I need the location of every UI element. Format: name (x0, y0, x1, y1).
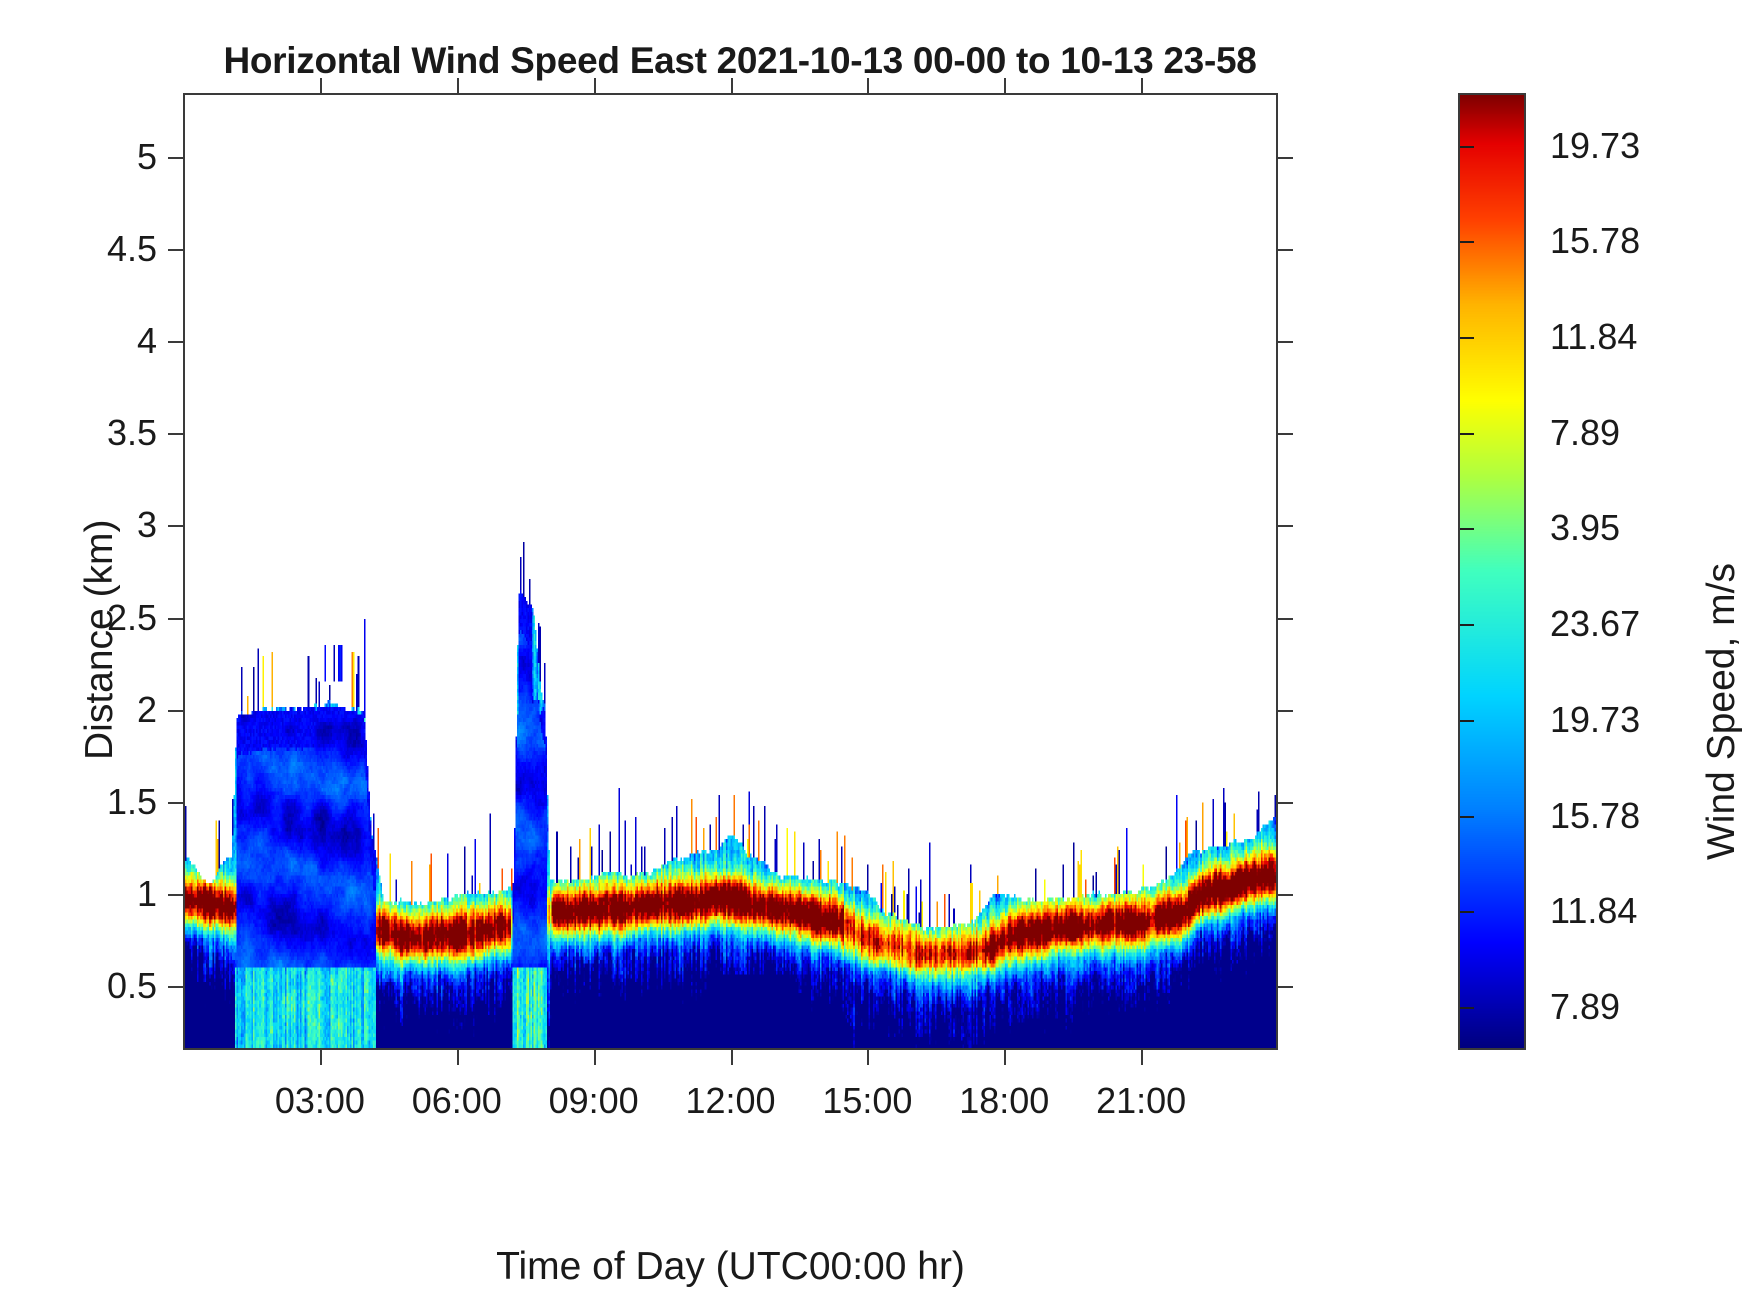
heatmap-image (185, 95, 1276, 1048)
colorbar-tick-label: 19.73 (1550, 125, 1640, 167)
x-tick-top (320, 78, 322, 93)
x-tick (1141, 1050, 1143, 1065)
colorbar-tick (1460, 337, 1474, 339)
x-tick-top (731, 78, 733, 93)
colorbar-tick-label: 19.73 (1550, 699, 1640, 741)
colorbar-tick (1460, 911, 1474, 913)
y-tick (168, 341, 183, 343)
y-tick (168, 710, 183, 712)
y-tick-right (1278, 341, 1293, 343)
colorbar-tick (1460, 241, 1474, 243)
colorbar-tick-label: 11.84 (1550, 316, 1637, 358)
plot-area (183, 93, 1278, 1050)
y-tick-label: 4 (0, 320, 157, 362)
y-tick-label: 4.5 (0, 228, 157, 270)
y-tick-label: 1 (0, 873, 157, 915)
y-tick-right (1278, 249, 1293, 251)
y-tick-right (1278, 157, 1293, 159)
heatmap-canvas (185, 95, 1276, 1048)
chart-figure: Horizontal Wind Speed East 2021-10-13 00… (0, 0, 1750, 1313)
y-tick (168, 894, 183, 896)
x-tick-top (594, 78, 596, 93)
x-axis-label: Time of Day (UTC00:00 hr) (183, 1245, 1278, 1289)
y-tick (168, 525, 183, 527)
y-axis-label: Distance (km) (78, 519, 122, 760)
colorbar-tick (1460, 816, 1474, 818)
y-tick (168, 249, 183, 251)
x-tick (731, 1050, 733, 1065)
colorbar-tick (1460, 433, 1474, 435)
x-tick-top (1141, 78, 1143, 93)
chart-title: Horizontal Wind Speed East 2021-10-13 00… (0, 40, 1480, 82)
y-tick (168, 802, 183, 804)
colorbar-gradient (1460, 95, 1524, 1048)
colorbar (1458, 93, 1526, 1050)
colorbar-tick (1460, 1007, 1474, 1009)
y-tick-label: 1.5 (0, 781, 157, 823)
y-tick-right (1278, 710, 1293, 712)
x-tick-top (457, 78, 459, 93)
y-tick (168, 433, 183, 435)
x-tick-top (1004, 78, 1006, 93)
colorbar-tick (1460, 624, 1474, 626)
y-tick-right (1278, 618, 1293, 620)
x-tick (320, 1050, 322, 1065)
x-tick-label: 03:00 (275, 1080, 365, 1122)
x-tick (594, 1050, 596, 1065)
y-tick (168, 157, 183, 159)
y-tick-label: 0.5 (0, 965, 157, 1007)
colorbar-label: Wind Speed, m/s (1700, 563, 1744, 860)
y-tick-right (1278, 433, 1293, 435)
x-tick-label: 06:00 (412, 1080, 502, 1122)
colorbar-tick-label: 15.78 (1550, 795, 1640, 837)
y-tick-right (1278, 986, 1293, 988)
x-tick-top (867, 78, 869, 93)
x-tick (1004, 1050, 1006, 1065)
colorbar-tick-label: 3.95 (1550, 507, 1620, 549)
colorbar-tick (1460, 720, 1474, 722)
y-tick-label: 3.5 (0, 412, 157, 454)
x-tick (867, 1050, 869, 1065)
y-tick-label: 5 (0, 136, 157, 178)
colorbar-tick (1460, 146, 1474, 148)
colorbar-tick-label: 7.89 (1550, 412, 1620, 454)
x-tick-label: 12:00 (685, 1080, 775, 1122)
y-tick-right (1278, 802, 1293, 804)
x-tick-label: 21:00 (1096, 1080, 1186, 1122)
colorbar-tick (1460, 528, 1474, 530)
y-tick-right (1278, 525, 1293, 527)
x-tick-label: 18:00 (959, 1080, 1049, 1122)
colorbar-tick-label: 7.89 (1550, 986, 1620, 1028)
y-tick (168, 618, 183, 620)
y-tick (168, 986, 183, 988)
x-tick-label: 09:00 (549, 1080, 639, 1122)
x-tick-label: 15:00 (822, 1080, 912, 1122)
x-tick (457, 1050, 459, 1065)
colorbar-tick-label: 23.67 (1550, 603, 1640, 645)
colorbar-tick-label: 15.78 (1550, 220, 1640, 262)
y-tick-right (1278, 894, 1293, 896)
colorbar-tick-label: 11.84 (1550, 890, 1637, 932)
